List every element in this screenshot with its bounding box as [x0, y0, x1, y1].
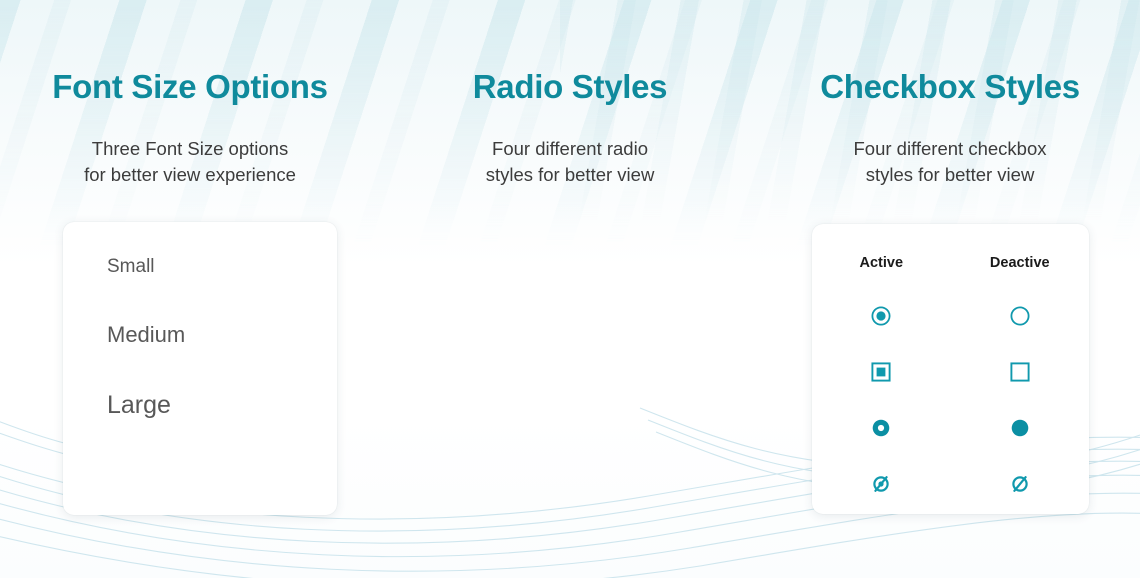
- subtitle-line-2: styles for better view: [760, 162, 1140, 188]
- font-option-large[interactable]: Large: [107, 391, 337, 420]
- page-title-radio-styles: Radio Styles: [380, 68, 760, 106]
- page-stage: Font Size Options Three Font Size option…: [0, 0, 1140, 578]
- column-radio-styles: Radio Styles Four different radio styles…: [380, 0, 760, 578]
- column-font-size: Font Size Options Three Font Size option…: [0, 0, 380, 578]
- font-size-list: Small Medium Large: [107, 256, 337, 420]
- subtitle-line-2: styles for better view: [380, 162, 760, 188]
- subtitle-line-2: for better view experience: [0, 162, 380, 188]
- column-subtitle-font-size: Three Font Size options for better view …: [0, 136, 380, 189]
- font-option-small[interactable]: Small: [107, 256, 337, 278]
- subtitle-line-1: Four different checkbox: [760, 136, 1140, 162]
- column-checkbox-styles: Checkbox Styles Four different checkbox …: [760, 0, 1140, 578]
- font-option-medium[interactable]: Medium: [107, 322, 337, 348]
- columns-row: Font Size Options Three Font Size option…: [0, 0, 1140, 578]
- page-title-checkbox-styles: Checkbox Styles: [760, 68, 1140, 106]
- subtitle-line-1: Four different radio: [380, 136, 760, 162]
- column-subtitle-checkbox-styles: Four different checkbox styles for bette…: [760, 136, 1140, 189]
- font-size-card: Small Medium Large: [63, 222, 337, 515]
- subtitle-line-1: Three Font Size options: [0, 136, 380, 162]
- column-subtitle-radio-styles: Four different radio styles for better v…: [380, 136, 760, 189]
- page-title-font-size: Font Size Options: [0, 68, 380, 106]
